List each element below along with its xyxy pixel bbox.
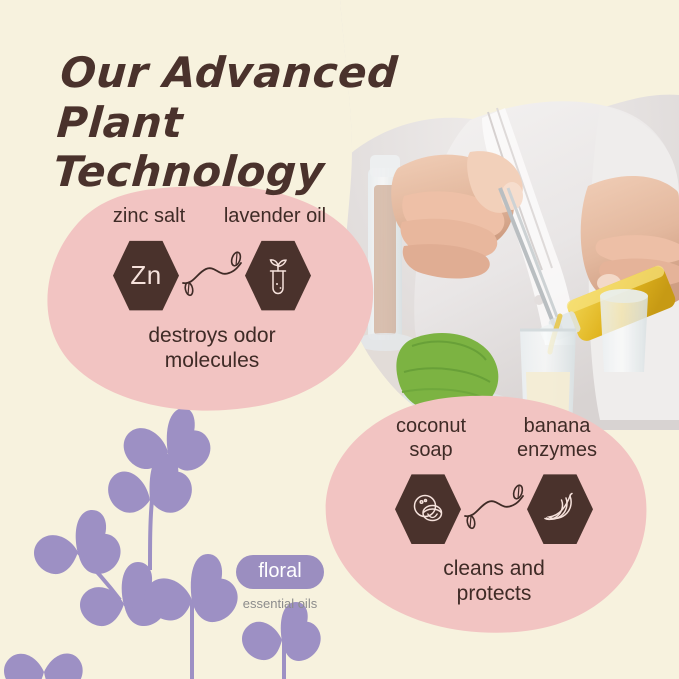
vine-squiggle-icon: [461, 472, 527, 546]
label-coconut-soap: coconut soap: [376, 415, 486, 462]
label-zinc-salt: zinc salt: [94, 205, 204, 229]
blob-odor-icon-row: Zn: [82, 239, 342, 313]
coconut-hexagon: [395, 472, 461, 546]
infographic-canvas: Our Advanced Plant Technology zinc salt …: [0, 0, 679, 679]
zn-symbol-text: Zn: [130, 260, 161, 291]
floral-badge-group: floral essential oils: [220, 555, 340, 611]
page-title: Our Advanced Plant Technology: [52, 48, 462, 197]
blob-clean: coconut soap banana enzymes: [360, 415, 628, 607]
blob-clean-labels: coconut soap banana enzymes: [360, 415, 628, 462]
banana-hexagon: [527, 472, 593, 546]
zn-hexagon-icon: Zn: [113, 239, 179, 313]
vine-squiggle-icon: [179, 239, 245, 313]
caption-destroys-odor: destroys odor molecules: [82, 323, 342, 373]
blob-odor-labels: zinc salt lavender oil: [82, 205, 342, 229]
coconut-icon: [409, 490, 447, 528]
essential-oils-label: essential oils: [220, 596, 340, 611]
label-banana-enzymes: banana enzymes: [502, 415, 612, 462]
blob-odor: zinc salt lavender oil Zn: [82, 205, 342, 373]
caption-cleans-protects: cleans and protects: [360, 556, 628, 606]
test-tube-plant-icon: [261, 256, 295, 296]
label-lavender-oil: lavender oil: [220, 205, 330, 229]
banana-bunch-icon: [541, 492, 579, 526]
floral-badge[interactable]: floral: [236, 555, 323, 589]
test-tube-plant-hexagon: [245, 239, 311, 313]
blob-clean-icon-row: [360, 472, 628, 546]
